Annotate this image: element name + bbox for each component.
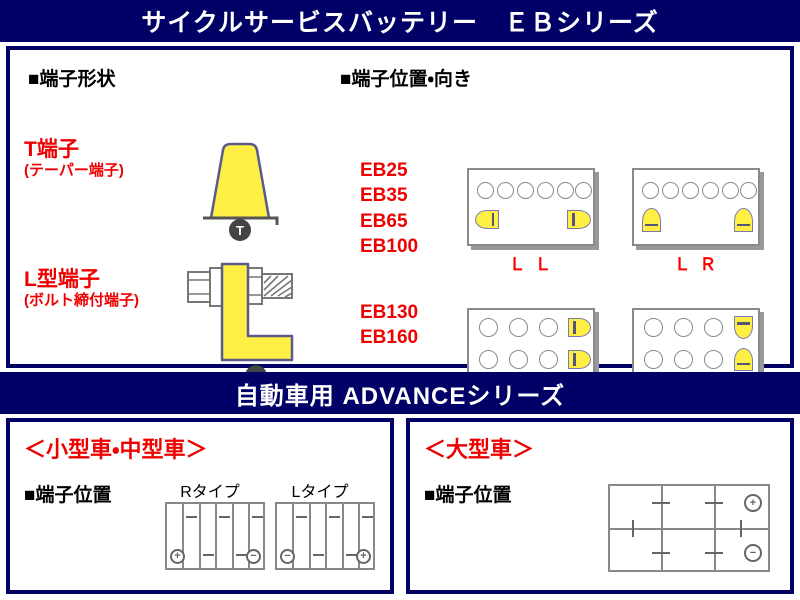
eb-series-panel: ■端子形状 ■端子位置・向き T端子 (テーパー端子) T L型端子 (ボルト締… <box>6 46 794 368</box>
polarity-positive: + <box>744 494 762 512</box>
vent-cap <box>537 182 554 199</box>
vent-cap <box>479 318 498 337</box>
polarity-positive: + <box>356 549 371 564</box>
vent-cap <box>704 350 723 369</box>
vent-cap <box>557 182 574 199</box>
model-eb160: EB160 <box>360 325 418 350</box>
vent-cap <box>662 182 679 199</box>
vent-cap <box>704 318 723 337</box>
vent-cap <box>477 182 494 199</box>
l-terminal-name: L型端子 <box>24 268 139 292</box>
position-label-r1-ll: Ｌ Ｌ <box>467 250 595 275</box>
vent-cap <box>575 182 592 199</box>
vent-cap <box>509 350 528 369</box>
l-type-caption: Lタイプ <box>268 478 372 502</box>
r-type-caption: Rタイプ <box>158 478 262 502</box>
model-list-row1: EB25 EB35 EB65 EB100 <box>360 158 418 259</box>
terminal-left <box>642 208 661 232</box>
l-terminal-label: L型端子 (ボルト締付端子) <box>24 268 139 310</box>
model-list-row2: EB130 EB160 <box>360 300 418 351</box>
vent-cap <box>642 182 659 199</box>
vent-cap <box>497 182 514 199</box>
vent-cap <box>517 182 534 199</box>
vent-cap <box>722 182 739 199</box>
vent-cap <box>539 318 558 337</box>
large-car-panel: ＜大型車＞ ■端子位置 + − <box>406 418 794 594</box>
polarity-negative: − <box>246 549 261 564</box>
page-title: サイクルサービスバッテリー ＥＢシリーズ <box>141 3 659 39</box>
large-car-title: ＜大型車＞ <box>424 432 534 464</box>
model-eb65: EB65 <box>360 209 418 234</box>
polarity-negative: − <box>280 549 295 564</box>
large-car-terminal-position-heading: ■端子位置 <box>424 480 511 507</box>
battery-diagram-r2-lr <box>632 308 760 380</box>
vent-cap <box>644 350 663 369</box>
terminal-top-right <box>568 318 591 337</box>
model-eb100: EB100 <box>360 234 418 259</box>
terminal-position-heading: ■端子位置・向き <box>340 64 472 91</box>
terminal-bottom-right <box>568 350 591 369</box>
t-terminal-badge-text: T <box>236 223 244 238</box>
t-terminal-label: T端子 (テーパー端子) <box>24 138 124 180</box>
model-eb35: EB35 <box>360 183 418 208</box>
position-label-r1-lr: Ｌ Ｒ <box>632 250 760 275</box>
terminal-right <box>567 210 591 229</box>
t-terminal-illustration: T <box>178 122 298 247</box>
polarity-negative: − <box>744 544 762 562</box>
vent-cap <box>509 318 528 337</box>
page-title-banner: サイクルサービスバッテリー ＥＢシリーズ <box>0 0 800 42</box>
advance-series-banner: 自動車用 ADVANCEシリーズ <box>0 372 800 414</box>
battery-diagram-r1-ll <box>467 168 595 246</box>
vent-cap <box>682 182 699 199</box>
car-battery-large: + − <box>608 484 770 572</box>
battery-diagram-r2-ll <box>467 308 595 380</box>
t-terminal-detail: (テーパー端子) <box>24 162 124 180</box>
small-medium-terminal-position-heading: ■端子位置 <box>24 480 111 507</box>
small-medium-car-title: ＜小型車・中型車＞ <box>24 432 207 464</box>
polarity-positive: + <box>170 549 185 564</box>
vent-cap <box>740 182 757 199</box>
vent-cap <box>674 318 693 337</box>
advance-series-title: 自動車用 ADVANCEシリーズ <box>235 376 565 411</box>
battery-spec-sheet: サイクルサービスバッテリー ＥＢシリーズ ■端子形状 ■端子位置・向き T端子 … <box>0 0 800 600</box>
terminal-left <box>475 210 499 229</box>
vent-cap <box>644 318 663 337</box>
battery-diagram-r1-lr <box>632 168 760 246</box>
vent-cap <box>674 350 693 369</box>
small-medium-car-panel: ＜小型車・中型車＞ ■端子位置 Rタイプ + − Lタイプ <box>6 418 394 594</box>
vent-cap <box>479 350 498 369</box>
vent-cap <box>539 350 558 369</box>
terminal-top-right <box>734 316 753 339</box>
model-eb25: EB25 <box>360 158 418 183</box>
model-eb130: EB130 <box>360 300 418 325</box>
car-battery-l-type: − + <box>275 502 375 570</box>
l-terminal-detail: (ボルト締付端子) <box>24 292 139 310</box>
car-battery-r-type: + − <box>165 502 265 570</box>
terminal-bottom-right <box>734 348 753 371</box>
t-terminal-name: T端子 <box>24 138 124 162</box>
terminal-right <box>734 208 753 232</box>
vent-cap <box>702 182 719 199</box>
terminal-shape-heading: ■端子形状 <box>28 64 115 91</box>
